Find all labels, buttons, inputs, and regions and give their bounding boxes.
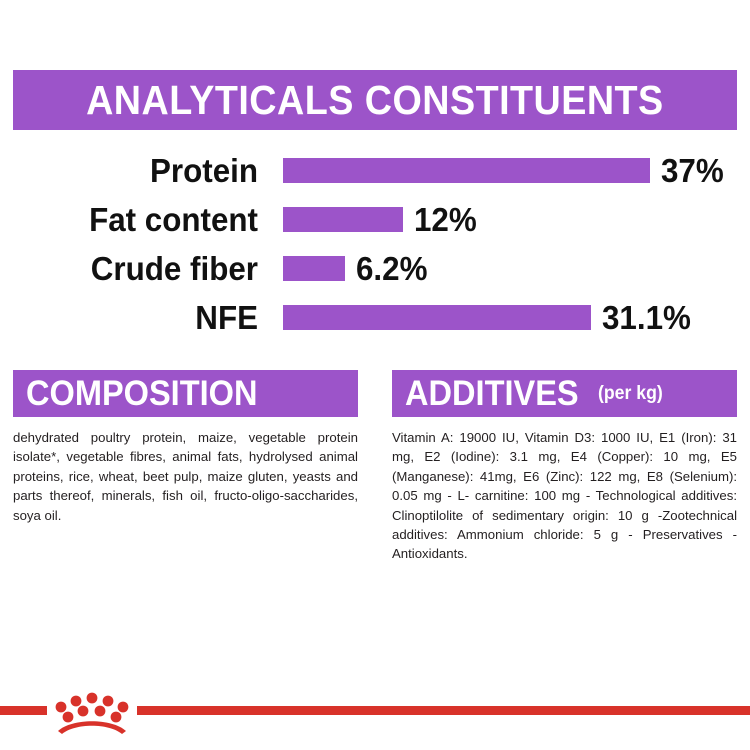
composition-body-text: dehydrated poultry protein, maize, veget… (13, 428, 358, 525)
table-row: Protein 37% (0, 146, 750, 195)
table-row: NFE 31.1% (0, 293, 750, 342)
additives-banner: ADDITIVES (per kg) (392, 370, 737, 417)
table-row: Crude fiber 6.2% (0, 244, 750, 293)
additives-body-text: Vitamin A: 19000 IU, Vitamin D3: 1000 IU… (392, 428, 737, 564)
page-title: ANALYTICALS CONSTITUENTS (86, 77, 664, 124)
bar-fill-crude-fiber (283, 256, 345, 281)
bar-track-nfe: 31.1% (283, 301, 696, 334)
bar-track-crude-fiber: 6.2% (283, 252, 431, 285)
footer-divider (0, 690, 750, 750)
bar-track-protein: 37% (283, 154, 727, 187)
bar-track-fat-content: 12% (283, 203, 480, 236)
footer-rule-left (0, 706, 47, 715)
additives-unit-label: (per kg) (598, 384, 663, 403)
bar-label-protein: Protein (13, 154, 258, 187)
composition-section: COMPOSITION dehydrated poultry protein, … (13, 370, 358, 525)
bar-label-fat-content: Fat content (13, 203, 258, 236)
bar-fill-fat-content (283, 207, 403, 232)
bar-fill-protein (283, 158, 650, 183)
composition-title: COMPOSITION (26, 376, 257, 411)
bar-value-fat-content: 12% (414, 203, 477, 236)
bar-fill-nfe (283, 305, 591, 330)
bar-label-crude-fiber: Crude fiber (13, 252, 258, 285)
analyticals-constituents-banner: ANALYTICALS CONSTITUENTS (13, 70, 737, 130)
bar-label-nfe: NFE (13, 301, 258, 334)
footer-rule-right (137, 706, 750, 715)
additives-title: ADDITIVES (405, 376, 579, 411)
royal-canin-crown-icon (52, 690, 132, 736)
additives-section: ADDITIVES (per kg) Vitamin A: 19000 IU, … (392, 370, 737, 564)
composition-banner: COMPOSITION (13, 370, 358, 417)
bar-value-nfe: 31.1% (602, 301, 691, 334)
table-row: Fat content 12% (0, 195, 750, 244)
bar-value-crude-fiber: 6.2% (356, 252, 427, 285)
bar-value-protein: 37% (661, 154, 724, 187)
analyticals-bar-chart: Protein 37% Fat content 12% Crude fiber … (0, 146, 750, 342)
